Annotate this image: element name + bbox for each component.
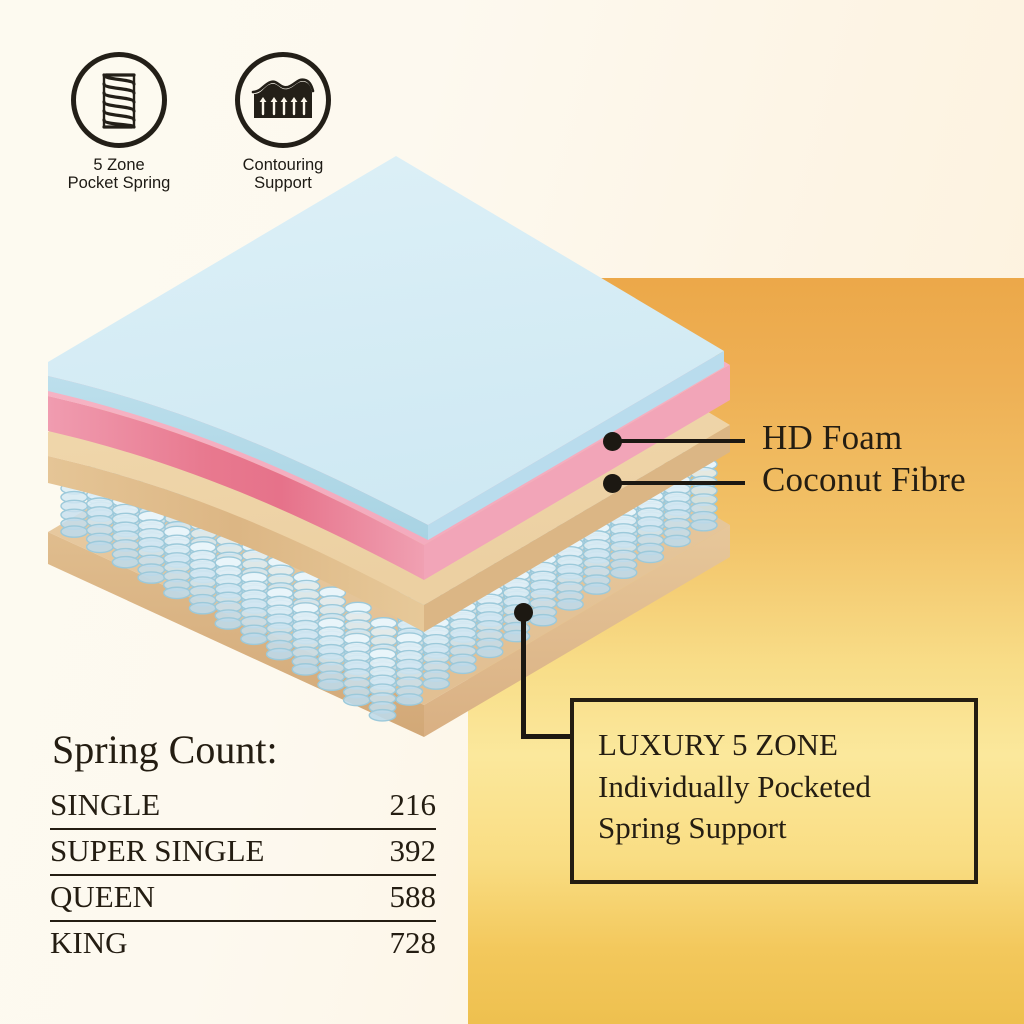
callout-line-1: LUXURY 5 ZONE xyxy=(598,724,974,766)
pocket-coil xyxy=(189,542,215,614)
badge-ring xyxy=(235,52,331,148)
spring-support-callout-box: LUXURY 5 ZONE Individually Pocketed Spri… xyxy=(570,698,978,884)
table-row: SUPER SINGLE392 xyxy=(50,829,436,875)
pocket-coil xyxy=(292,603,318,675)
spring-count-size: QUEEN xyxy=(50,875,367,921)
spring-count-value: 588 xyxy=(367,875,436,921)
spring-callout-leader-vertical xyxy=(521,612,526,737)
table-row: QUEEN588 xyxy=(50,875,436,921)
pocket-coil xyxy=(267,588,293,660)
hd-foam-leader-line xyxy=(612,439,745,443)
pocket-coil xyxy=(344,633,370,705)
spring-count-table: SINGLE216SUPER SINGLE392QUEEN588KING728 xyxy=(50,784,436,966)
pocket-coil xyxy=(396,633,422,705)
hd-foam-label: HD Foam xyxy=(762,418,902,458)
callout-line-3: Spring Support xyxy=(598,807,974,849)
coconut-fibre-label: Coconut Fibre xyxy=(762,460,966,500)
pocket-coil xyxy=(369,649,395,721)
coil-spring-icon xyxy=(90,66,148,134)
spring-count-title: Spring Count: xyxy=(52,726,278,773)
spring-count-size: SUPER SINGLE xyxy=(50,829,367,875)
pocket-coil xyxy=(164,526,190,598)
contouring-mattress-icon xyxy=(250,74,316,126)
spring-count-value: 728 xyxy=(367,921,436,966)
spring-count-size: SINGLE xyxy=(50,784,367,829)
spring-callout-leader-horizontal xyxy=(521,734,574,739)
badge-ring xyxy=(71,52,167,148)
spring-count-value: 216 xyxy=(367,784,436,829)
pocket-coil xyxy=(215,557,241,629)
spring-count-value: 392 xyxy=(367,829,436,875)
table-row: SINGLE216 xyxy=(50,784,436,829)
callout-line-2: Individually Pocketed xyxy=(598,766,974,808)
spring-count-size: KING xyxy=(50,921,367,966)
table-row: KING728 xyxy=(50,921,436,966)
pocket-coil xyxy=(318,618,344,690)
pocket-coil xyxy=(138,511,164,583)
infographic-canvas: 5 Zone Pocket Spring xyxy=(0,0,1024,1024)
pocket-coil xyxy=(112,496,138,568)
pocket-coil xyxy=(241,572,267,644)
coconut-fibre-leader-line xyxy=(612,481,745,485)
